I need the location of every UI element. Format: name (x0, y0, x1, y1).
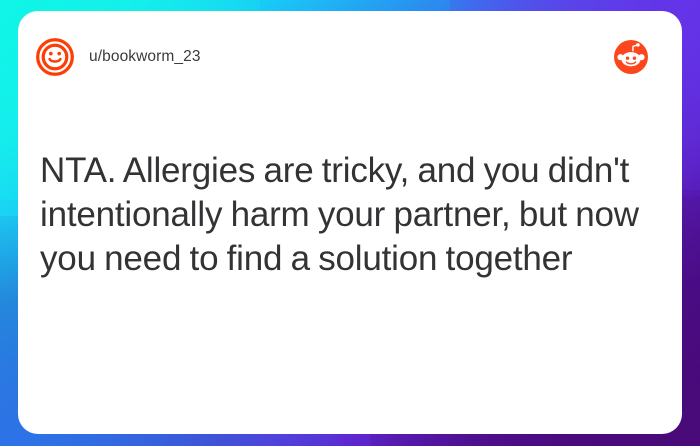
post-header: u/bookworm_23 (18, 11, 682, 103)
gradient-backdrop: u/bookworm_23 (0, 0, 700, 446)
smiley-face-circle-icon (36, 38, 74, 76)
post-body-text: NTA. Allergies are tricky, and you didn'… (40, 149, 668, 281)
reddit-snoo-icon (614, 40, 648, 74)
reddit-post-card: u/bookworm_23 (18, 11, 682, 434)
post-author-username[interactable]: u/bookworm_23 (89, 48, 201, 66)
